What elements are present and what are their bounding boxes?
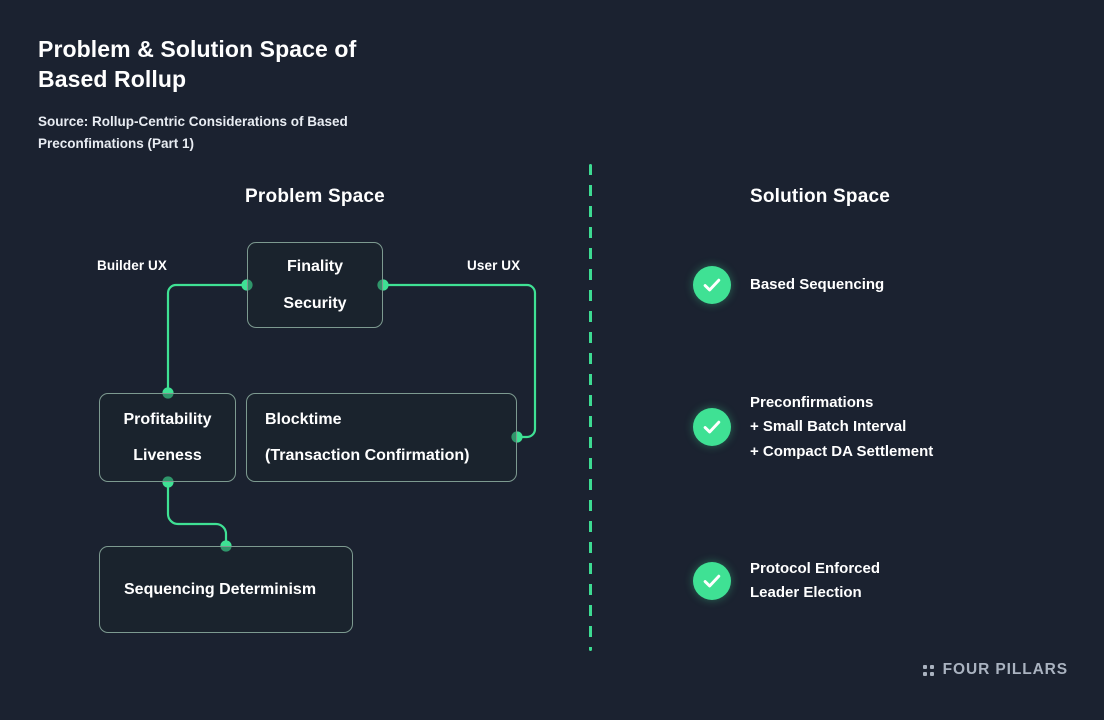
solution-item-label: Based Sequencing (750, 273, 884, 297)
problem-box-sequencing-determinism[interactable]: Sequencing Determinism (99, 546, 353, 633)
four-pillars-logo: FOUR PILLARS (923, 661, 1068, 679)
vertical-divider (589, 164, 592, 651)
edge-label-builder-ux: Builder UX (97, 258, 167, 273)
four-dots-icon (923, 665, 934, 676)
box-line: Security (283, 294, 346, 313)
solution-space-heading: Solution Space (665, 186, 975, 208)
box-line: Profitability (123, 410, 211, 429)
problem-box-profitability[interactable]: Profitability Liveness (99, 393, 236, 482)
check-circle-icon (693, 562, 731, 600)
solution-item-label: Preconfirmations + Small Batch Interval … (750, 391, 933, 464)
diagram-canvas: Problem & Solution Space of Based Rollup… (0, 0, 1104, 720)
box-line: Finality (287, 257, 343, 276)
check-circle-icon (693, 408, 731, 446)
box-line: (Transaction Confirmation) (265, 446, 469, 465)
wire-sequencing (168, 482, 226, 546)
source-caption: Source: Rollup-Centric Considerations of… (38, 111, 508, 156)
edge-label-user-ux: User UX (467, 258, 520, 273)
solution-item-based-sequencing[interactable]: Based Sequencing (693, 266, 884, 304)
header-block: Problem & Solution Space of Based Rollup… (38, 34, 508, 155)
solution-item-protocol-enforced-leader-election[interactable]: Protocol Enforced Leader Election (693, 557, 880, 606)
page-title: Problem & Solution Space of Based Rollup (38, 34, 508, 95)
box-line: Liveness (133, 446, 201, 465)
problem-box-blocktime[interactable]: Blocktime (Transaction Confirmation) (246, 393, 517, 482)
check-circle-icon (693, 266, 731, 304)
logo-wordmark: FOUR PILLARS (943, 661, 1068, 679)
box-line: Blocktime (265, 410, 341, 429)
solution-item-label: Protocol Enforced Leader Election (750, 557, 880, 606)
box-line: Sequencing Determinism (124, 580, 316, 599)
problem-box-finality[interactable]: Finality Security (247, 242, 383, 328)
problem-space-heading: Problem Space (160, 186, 470, 208)
wire-builder-ux (168, 285, 247, 393)
solution-item-preconfirmations[interactable]: Preconfirmations + Small Batch Interval … (693, 391, 933, 464)
